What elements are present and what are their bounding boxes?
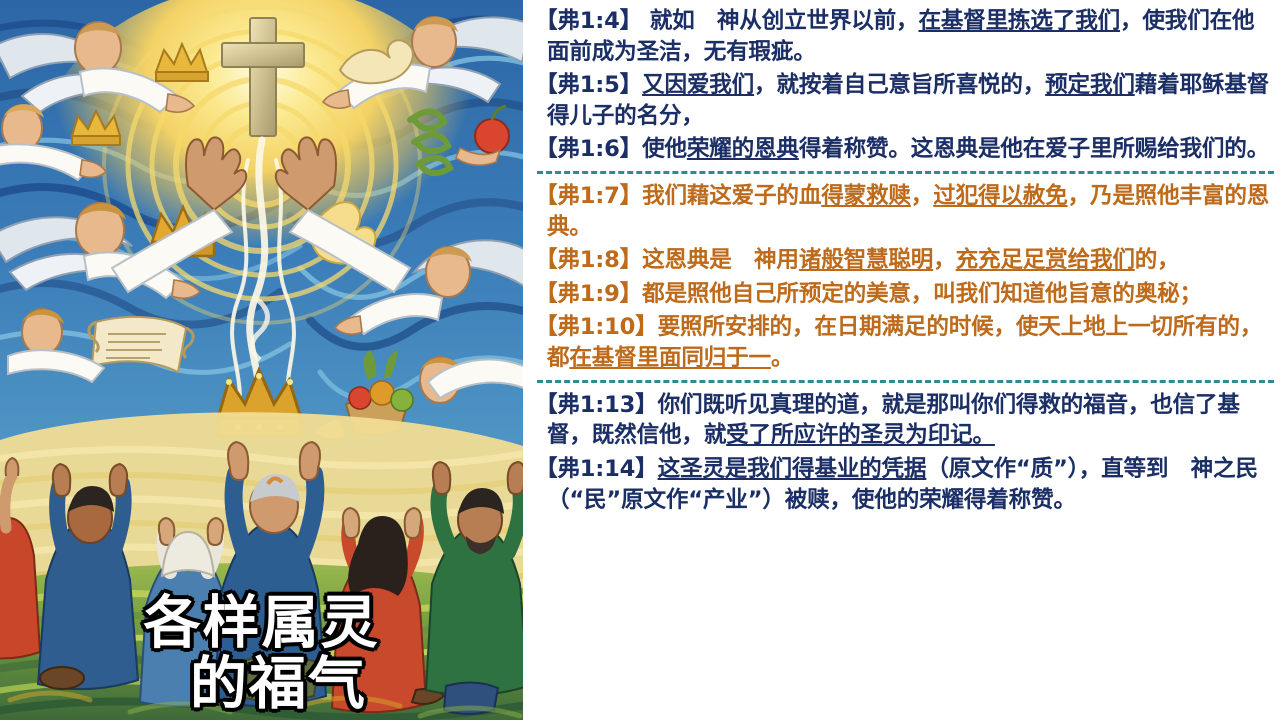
verse-eph-1-8: 【弗1:8】这恩典是 神用诸般智慧聪明，充充足足赏给我们的， [535,245,1276,276]
verse-eph-1-9: 【弗1:9】都是照他自己所预定的美意，叫我们知道他旨意的奥秘； [535,279,1276,310]
worship-illustration-svg [0,0,523,720]
verse-eph-1-7: 【弗1:7】我们藉这爱子的血得蒙救赎，过犯得以赦免，乃是照他丰富的恩典。 [535,181,1276,242]
verse-ref: 【弗1:10】 [535,314,658,340]
verse-text: ， [911,183,933,209]
verse-text: 使他 [642,136,687,162]
verse-text: 就如 神从创立世界以前， [642,8,918,34]
crown-icon [156,44,208,81]
verse-eph-1-14: 【弗1:14】这圣灵是我们得基业的凭据（原文作“质”），直等到 神之民（“民”原… [535,454,1276,515]
verse-eph-1-6: 【弗1:6】使他荣耀的恩典得着称赞。这恩典是他在爱子里所赐给我们的。 [535,134,1276,165]
verse-text: ， [933,247,955,273]
verse-emphasis: 受了所应许的圣灵为印记。 [726,422,995,448]
verse-ref: 【弗1:4】 [535,8,642,34]
verse-group-3: 【弗1:13】你们既听见真理的道，就是那叫你们得救的福音，也信了基督，既然信他，… [535,390,1276,515]
verse-emphasis: 又因爱我们 [642,72,754,98]
verse-eph-1-10: 【弗1:10】要照所安排的，在日期满足的时候，使天上地上一切所有的，都在基督里面… [535,312,1276,373]
verse-eph-1-4: 【弗1:4】 就如 神从创立世界以前，在基督里拣选了我们，使我们在他面前成为圣洁… [535,6,1276,67]
verse-text: 这恩典是 神用 [642,247,799,273]
verse-text: 的， [1135,247,1180,273]
verse-group-2: 【弗1:7】我们藉这爱子的血得蒙救赎，过犯得以赦免，乃是照他丰富的恩典。 【弗1… [535,181,1276,374]
verse-text: 我们藉这爱子的血 [642,183,821,209]
verse-ref: 【弗1:8】 [535,247,642,273]
verse-emphasis: 荣耀的恩典 [687,136,799,162]
worshipper-figure [38,464,138,689]
section-divider-1 [537,171,1274,174]
verse-eph-1-13: 【弗1:13】你们既听见真理的道，就是那叫你们得救的福音，也信了基督，既然信他，… [535,390,1276,451]
verse-ref: 【弗1:7】 [535,183,642,209]
verse-emphasis: 充充足足赏给我们 [956,247,1135,273]
verse-emphasis: 这圣灵是我们得基业的凭据 [658,456,927,482]
verse-text: ，就按着自己意旨所喜悦的， [754,72,1045,98]
verse-text: 都是照他自己所预定的美意，叫我们知道他旨意的奥秘； [642,281,1202,307]
verse-ref: 【弗1:14】 [535,456,658,482]
verse-eph-1-5: 【弗1:5】又因爱我们，就按着自己意旨所喜悦的，预定我们藉着耶稣基督得儿子的名分… [535,70,1276,131]
worship-illustration: 各样属灵 的福气 [0,0,523,720]
verse-ref: 【弗1:5】 [535,72,642,98]
verse-emphasis: 在基督里面同归于一 [569,345,771,371]
verse-emphasis: 过犯得以赦免 [933,183,1067,209]
verse-group-1: 【弗1:4】 就如 神从创立世界以前，在基督里拣选了我们，使我们在他面前成为圣洁… [535,6,1276,165]
slide-root: 各样属灵 的福气 【弗1:4】 就如 神从创立世界以前，在基督里拣选了我们，使我… [0,0,1280,720]
verse-ref: 【弗1:6】 [535,136,642,162]
crown-icon [72,111,120,145]
verse-text: 。 [771,345,793,371]
verse-emphasis: 在基督里拣选了我们 [918,8,1120,34]
scripture-column: 【弗1:4】 就如 神从创立世界以前，在基督里拣选了我们，使我们在他面前成为圣洁… [531,0,1280,720]
verse-ref: 【弗1:13】 [535,392,658,418]
verse-emphasis: 预定我们 [1045,72,1135,98]
verse-ref: 【弗1:9】 [535,281,642,307]
verse-emphasis: 诸般智慧聪明 [799,247,933,273]
section-divider-2 [537,380,1274,383]
worshipper-figure [214,442,326,706]
verse-emphasis: 得蒙救赎 [821,183,911,209]
verse-text: 得着称赞。这恩典是他在爱子里所赐给我们的。 [799,136,1269,162]
